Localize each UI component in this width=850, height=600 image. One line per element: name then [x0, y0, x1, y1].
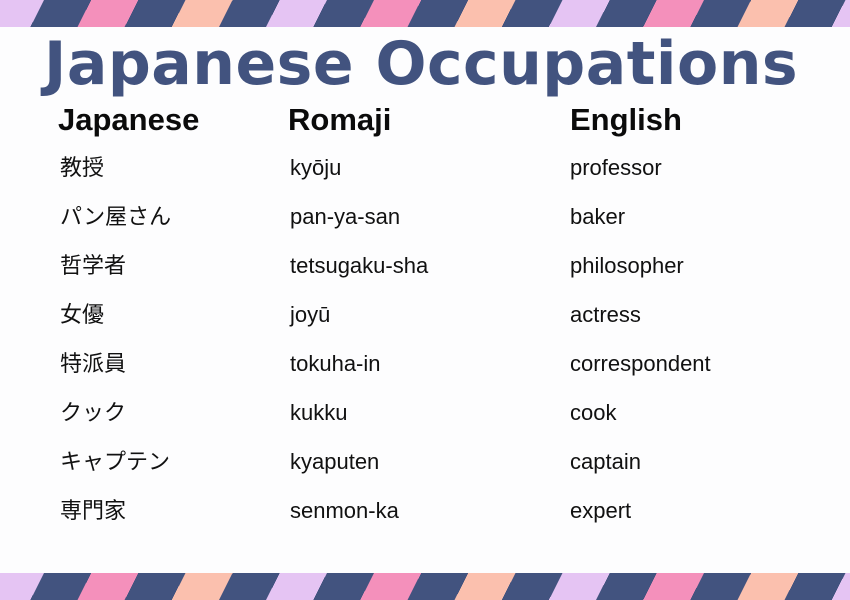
cell-japanese: パン屋さん	[0, 204, 285, 230]
table-row: 教授 kyōju professor	[0, 155, 850, 204]
cell-romaji: pan-ya-san	[285, 204, 570, 230]
cell-romaji: tokuha-in	[285, 351, 570, 377]
cell-english: professor	[570, 155, 850, 181]
table-row: 専門家 senmon-ka expert	[0, 498, 850, 547]
bottom-stripe-band	[0, 573, 850, 600]
cell-english: captain	[570, 449, 850, 475]
cell-romaji: joyū	[285, 302, 570, 328]
column-header-english: English	[570, 103, 850, 137]
top-stripe-band	[0, 0, 850, 27]
table-header-row: Japanese Romaji English	[0, 103, 850, 155]
vocabulary-sheet: Japanese Occupations Japanese Romaji Eng…	[0, 0, 850, 600]
cell-english: correspondent	[570, 351, 850, 377]
cell-english: baker	[570, 204, 850, 230]
cell-english: expert	[570, 498, 850, 524]
cell-romaji: senmon-ka	[285, 498, 570, 524]
table-row: キャプテン kyaputen captain	[0, 449, 850, 498]
vocabulary-table: Japanese Romaji English 教授 kyōju profess…	[0, 103, 850, 547]
cell-japanese: 女優	[0, 302, 285, 328]
cell-romaji: kyōju	[285, 155, 570, 181]
table-row: 哲学者 tetsugaku-sha philosopher	[0, 253, 850, 302]
cell-japanese: キャプテン	[0, 449, 285, 475]
cell-japanese: 特派員	[0, 351, 285, 377]
column-header-japanese: Japanese	[0, 103, 285, 137]
table-row: クック kukku cook	[0, 400, 850, 449]
cell-romaji: kukku	[285, 400, 570, 426]
table-row: 女優 joyū actress	[0, 302, 850, 351]
table-row: パン屋さん pan-ya-san baker	[0, 204, 850, 253]
cell-japanese: 専門家	[0, 498, 285, 524]
column-header-romaji: Romaji	[285, 103, 570, 137]
table-row: 特派員 tokuha-in correspondent	[0, 351, 850, 400]
page-title: Japanese Occupations	[44, 29, 824, 99]
cell-english: actress	[570, 302, 850, 328]
diagonal-stripes	[0, 573, 850, 600]
cell-romaji: tetsugaku-sha	[285, 253, 570, 279]
cell-english: cook	[570, 400, 850, 426]
cell-japanese: 哲学者	[0, 253, 285, 279]
cell-english: philosopher	[570, 253, 850, 279]
cell-romaji: kyaputen	[285, 449, 570, 475]
cell-japanese: 教授	[0, 155, 285, 181]
diagonal-stripes	[0, 0, 850, 27]
cell-japanese: クック	[0, 400, 285, 426]
